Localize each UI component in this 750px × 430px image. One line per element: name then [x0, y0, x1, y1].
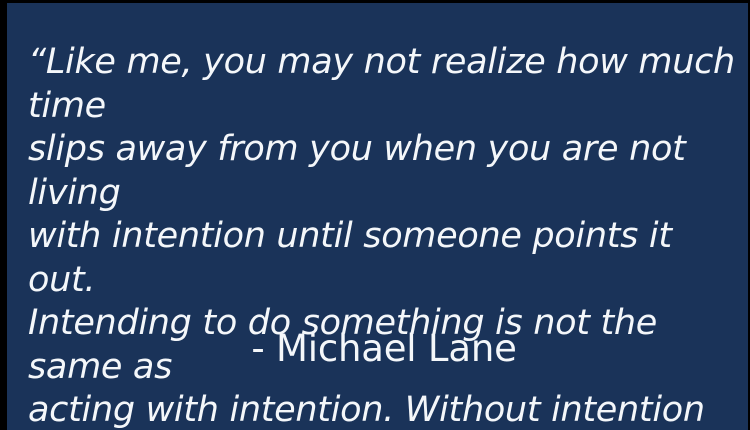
quote-card: “Like me, you may not realize how much t…	[0, 0, 750, 430]
quote-panel: “Like me, you may not realize how much t…	[7, 3, 748, 430]
quote-attribution: - Michael Lane	[28, 326, 740, 372]
